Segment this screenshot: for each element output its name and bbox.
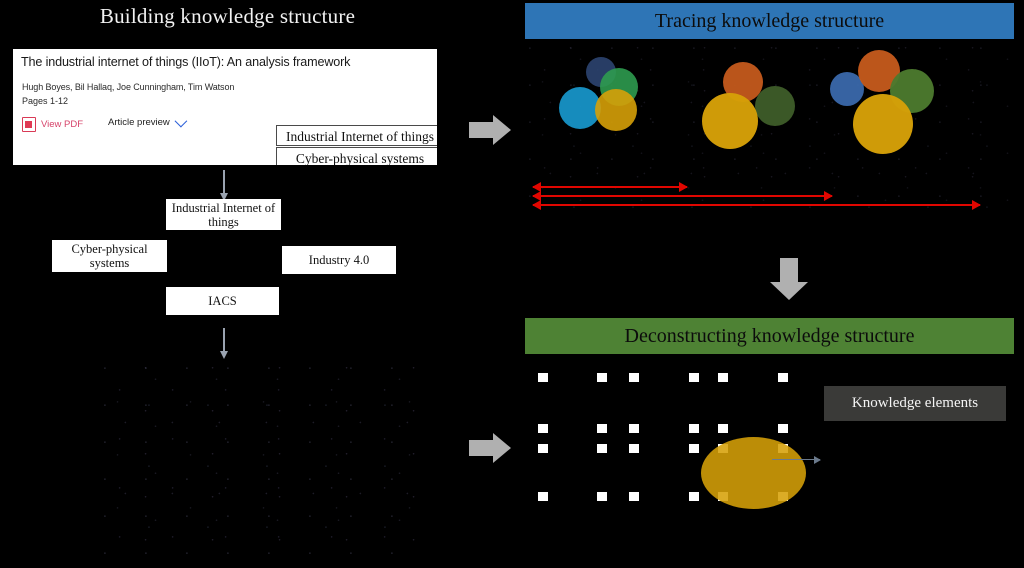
article-preview-toggle[interactable]: Article preview xyxy=(108,117,184,128)
knowledge-element-cell xyxy=(778,424,788,433)
knowledge-element-cell xyxy=(597,373,607,382)
article-preview-label: Article preview xyxy=(108,117,170,128)
node-iacs[interactable]: IACS xyxy=(166,287,279,315)
bubble-gold xyxy=(853,94,913,154)
tracing-band-title: Tracing knowledge structure xyxy=(525,3,1014,39)
node-industrial-internet-of-things[interactable]: Industrial Internet of things xyxy=(166,199,281,230)
knowledge-elements-label: Knowledge elements xyxy=(824,386,1006,421)
knowledge-element-cell xyxy=(538,492,548,501)
callout-arrow xyxy=(772,459,820,460)
knowledge-element-cell xyxy=(629,492,639,501)
pdf-icon xyxy=(22,117,36,132)
timeline-arrow-3 xyxy=(533,204,980,206)
knowledge-element-cell xyxy=(778,373,788,382)
knowledge-element-cell xyxy=(538,373,548,382)
slide-canvas: Building knowledge structure The industr… xyxy=(0,0,1024,568)
chevron-down-icon xyxy=(174,115,187,128)
block-arrow-down xyxy=(770,258,808,302)
bubble-gold xyxy=(702,93,758,149)
bubble-gold xyxy=(595,89,637,131)
knowledge-element-cell xyxy=(689,424,699,433)
knowledge-element-cell xyxy=(629,373,639,382)
flow-arrow-nodes-to-graph xyxy=(223,328,225,352)
highlight-ellipse xyxy=(701,437,806,509)
bubble-dark-green xyxy=(755,86,795,126)
paper-authors: Hugh Boyes, Bil Hallaq, Joe Cunningham, … xyxy=(22,82,268,92)
keyword-list: Industrial Internet of things Cyber-phys… xyxy=(276,125,437,165)
view-pdf-label: View PDF xyxy=(41,119,83,130)
keyword-item[interactable]: Industrial Internet of things xyxy=(276,125,437,146)
knowledge-element-cell xyxy=(718,424,728,433)
knowledge-element-cell xyxy=(689,373,699,382)
timeline-arrow-2 xyxy=(533,195,832,197)
knowledge-element-cell xyxy=(629,424,639,433)
knowledge-element-cell xyxy=(718,373,728,382)
knowledge-element-cell xyxy=(538,424,548,433)
flow-arrow-card-to-nodes xyxy=(223,170,225,194)
node-industry-40[interactable]: Industry 4.0 xyxy=(282,246,396,274)
knowledge-element-cell xyxy=(629,444,639,453)
paper-pages: Pages 1-12 xyxy=(22,96,68,106)
knowledge-element-cell xyxy=(689,444,699,453)
deconstructing-band-title: Deconstructing knowledge structure xyxy=(525,318,1014,354)
knowledge-element-cell xyxy=(597,444,607,453)
paper-title: The industrial internet of things (IIoT)… xyxy=(21,55,381,69)
keyword-item[interactable]: Cyber-physical systems xyxy=(276,147,437,165)
graph-noise-texture xyxy=(100,360,420,560)
block-arrow-right-top xyxy=(469,115,515,145)
block-arrow-right-bottom xyxy=(469,433,515,463)
view-pdf-link[interactable]: View PDF xyxy=(22,117,83,132)
network-graph-dark-region xyxy=(100,360,420,560)
timeline-arrow-1 xyxy=(533,186,687,188)
node-cyber-physical-systems[interactable]: Cyber-physical systems xyxy=(52,240,167,272)
paper-card: The industrial internet of things (IIoT)… xyxy=(13,49,437,165)
knowledge-element-cell xyxy=(597,424,607,433)
left-panel-title: Building knowledge structure xyxy=(0,4,455,29)
knowledge-element-cell xyxy=(538,444,548,453)
knowledge-element-cell xyxy=(597,492,607,501)
knowledge-element-cell xyxy=(689,492,699,501)
